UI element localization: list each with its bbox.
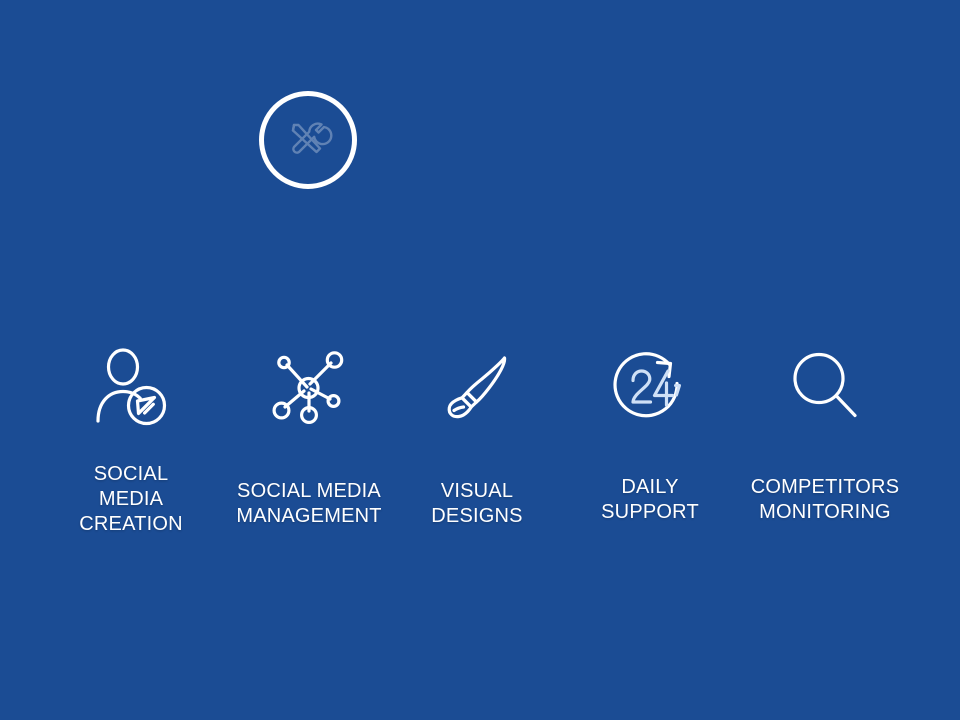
- services-row: SOCIAL MEDIA CREATION: [0, 340, 960, 560]
- tools-icon: [281, 113, 335, 167]
- service-label: COMPETITORS MONITORING: [720, 475, 930, 525]
- magnifier-icon: [720, 340, 930, 436]
- hero-badge: [259, 91, 357, 189]
- service-item-competitors-monitoring[interactable]: COMPETITORS MONITORING: [720, 340, 930, 525]
- presentation-slide: SOCIAL MEDIA CREATION: [0, 0, 960, 720]
